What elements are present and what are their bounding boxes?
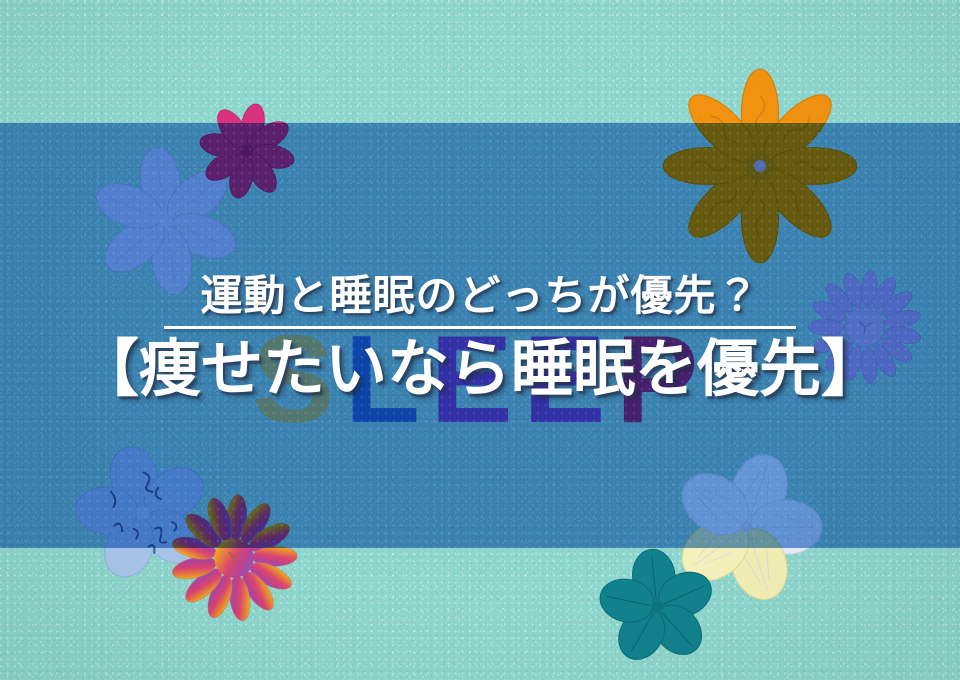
banner-image: SLEEP 運動と睡眠のどっちが優先？ 【痩せたいなら睡眠を優先】 (0, 0, 960, 680)
title-line-2: 【痩せたいなら睡眠を優先】 (0, 334, 960, 403)
title-block: 運動と睡眠のどっちが優先？ 【痩せたいなら睡眠を優先】 (0, 272, 960, 403)
title-line-1: 運動と睡眠のどっちが優先？ (0, 272, 960, 320)
title-underline-rule (164, 326, 796, 329)
